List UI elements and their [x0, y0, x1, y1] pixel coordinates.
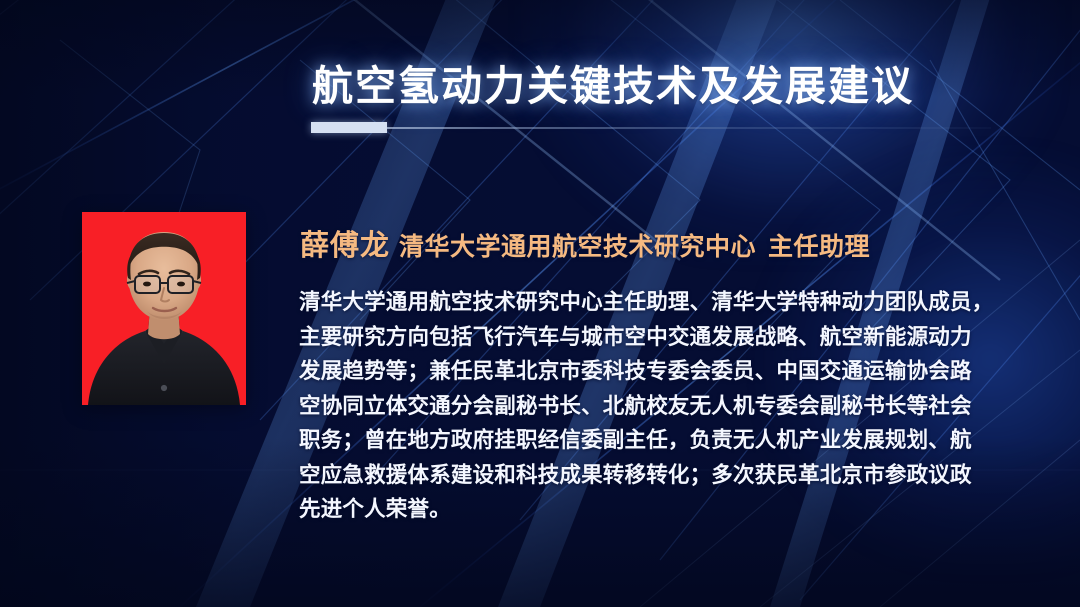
title-underline-line — [311, 127, 991, 129]
title-underline — [311, 126, 991, 129]
title-underline-block — [311, 122, 387, 133]
bio-line: 空应急救援体系建设和科技成果转移转化；多次获民革北京市参政议政 — [299, 458, 1019, 493]
bio-line: 清华大学通用航空技术研究中心主任助理、清华大学特种动力团队成员， — [299, 285, 1019, 320]
speaker-bio: 清华大学通用航空技术研究中心主任助理、清华大学特种动力团队成员， 主要研究方向包… — [299, 285, 1019, 527]
bio-line: 先进个人荣誉。 — [299, 492, 1019, 527]
speaker-role: 主任助理 — [768, 233, 870, 261]
speaker-name: 薛傅龙 — [300, 230, 390, 262]
presentation-slide: 航空氢动力关键技术及发展建议 — [0, 0, 1080, 607]
speaker-name-line: 薛傅龙清华大学通用航空技术研究中心主任助理 — [300, 222, 870, 264]
page-title: 航空氢动力关键技术及发展建议 — [312, 52, 914, 112]
bio-line: 空协同立体交通分会副秘书长、北航校友无人机专委会副秘书长等社会 — [299, 389, 1019, 424]
speaker-photo — [82, 212, 246, 405]
speaker-organization: 清华大学通用航空技术研究中心 — [399, 233, 756, 261]
bio-line: 发展趋势等；兼任民革北京市委科技专委会委员、中国交通运输协会路 — [299, 354, 1019, 389]
bio-line: 主要研究方向包括飞行汽车与城市空中交通发展战略、航空新能源动力 — [299, 320, 1019, 355]
bio-line: 职务；曾在地方政府挂职经信委副主任，负责无人机产业发展规划、航 — [299, 423, 1019, 458]
